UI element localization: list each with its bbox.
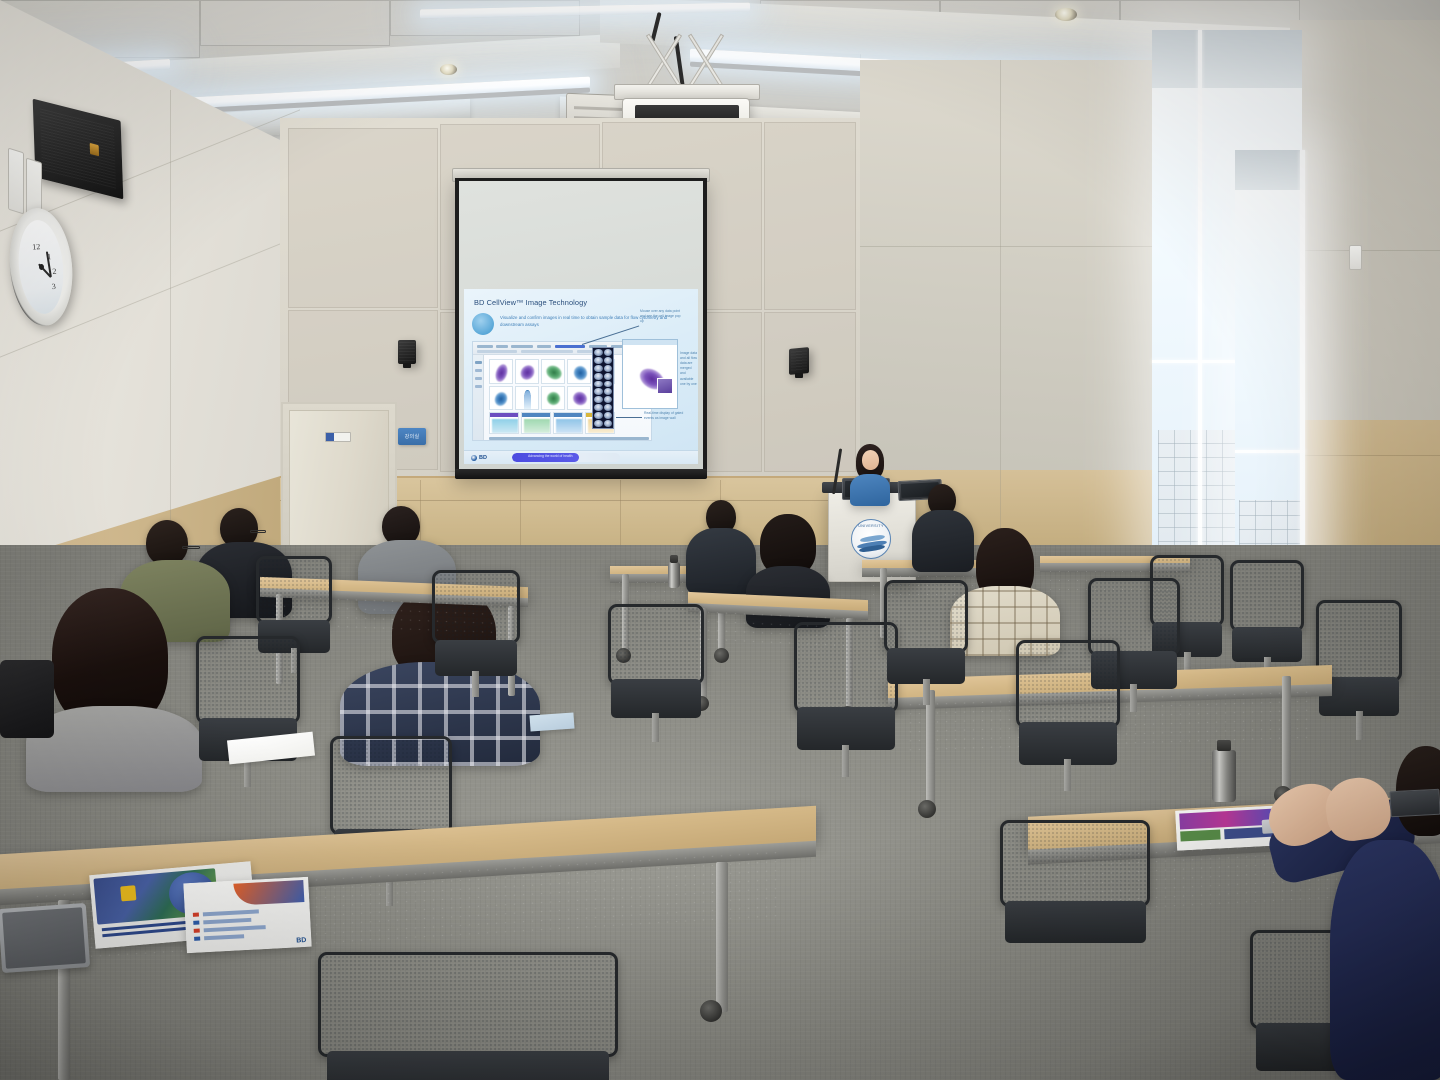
chair[interactable] xyxy=(1230,560,1304,676)
flow-plot-1 xyxy=(489,359,513,384)
presenter xyxy=(848,444,892,504)
slide-icon-badge xyxy=(472,313,494,335)
bd-mark-icon xyxy=(471,455,477,461)
flow-plot-4 xyxy=(567,359,591,384)
slide-detail-panel xyxy=(622,339,678,409)
brochure-bd-logo-2: BD xyxy=(296,937,306,945)
handout-paper-2[interactable] xyxy=(529,712,574,731)
curve-panel-1 xyxy=(489,412,519,434)
callout-text-bottom: Real-time display of gated events as ima… xyxy=(644,411,686,421)
wall-speaker-back-right xyxy=(789,347,809,375)
chair[interactable] xyxy=(794,622,898,768)
water-bottle-2[interactable] xyxy=(1212,750,1236,802)
flow-plot-8 xyxy=(541,386,565,410)
presenter-head xyxy=(862,450,879,470)
window-blind-1 xyxy=(1152,30,1302,88)
backpack xyxy=(0,660,54,738)
bd-logo-text: BD xyxy=(479,455,487,461)
flow-plot-9 xyxy=(567,386,591,410)
callout-text-right: Image data and all flow data are merged … xyxy=(680,351,698,387)
slide-title: BD CellView™ Image Technology xyxy=(474,298,587,307)
speaker-indicator xyxy=(90,143,99,156)
clock-number-2: 2 xyxy=(52,267,57,276)
table-caster xyxy=(714,648,729,663)
window-blind-2 xyxy=(1235,150,1305,190)
chair[interactable] xyxy=(432,570,520,690)
door-sign xyxy=(325,432,351,442)
table-caster xyxy=(918,800,936,818)
room-sign-label: 강의실 xyxy=(398,428,426,445)
slide-banner-text: Advancing the world of health xyxy=(528,454,572,458)
callout-text-top: Mouse over any data point and see the ce… xyxy=(640,309,684,324)
chair[interactable] xyxy=(318,952,618,1080)
flow-plot-2 xyxy=(515,359,539,384)
chair[interactable] xyxy=(608,604,704,734)
flow-plot-7 xyxy=(515,386,539,410)
seminar-room-photo: 12 1 2 3 강의실 BD CellView™ Image Technolo… xyxy=(0,0,1440,1080)
clock-number-12: 12 xyxy=(32,242,41,252)
water-bottle-1[interactable] xyxy=(668,562,680,588)
attendee-laptop[interactable] xyxy=(1389,789,1440,818)
table-caster xyxy=(700,1000,722,1022)
table-leg xyxy=(926,690,935,808)
chair[interactable] xyxy=(884,580,968,698)
downlight-1 xyxy=(440,64,457,75)
slide-footer: BD Advancing the world of health xyxy=(464,450,698,464)
table-leg xyxy=(716,862,728,1012)
cell-image-wall xyxy=(592,347,614,429)
clock-number-3: 3 xyxy=(51,282,56,291)
flow-plot-6 xyxy=(489,386,513,410)
projected-slide: BD CellView™ Image Technology Visualize … xyxy=(464,289,698,464)
attendee-navy-foreground xyxy=(1246,776,1440,1080)
app-sidebar xyxy=(473,355,484,440)
downlight-3 xyxy=(1055,8,1077,21)
curve-panel-2 xyxy=(521,412,551,434)
room-number-sign: 강의실 xyxy=(398,428,426,445)
presenter-torso xyxy=(850,474,890,506)
curve-panel-3 xyxy=(553,412,583,434)
callout-line-bottom xyxy=(616,417,642,418)
bd-logo: BD xyxy=(471,455,487,461)
foreground-tablet[interactable] xyxy=(0,903,90,973)
emblem-label: UNIVERSITY xyxy=(852,524,890,528)
wall-plate-1 xyxy=(8,148,24,215)
wall-plate-right xyxy=(1349,245,1362,270)
chair[interactable] xyxy=(1016,640,1120,782)
chair[interactable] xyxy=(1000,820,1150,960)
brochure-back[interactable]: BD xyxy=(183,877,311,953)
screen-bottom-bar xyxy=(455,469,707,479)
attendee-torso xyxy=(1330,840,1440,1080)
flow-plot-3 xyxy=(541,359,565,384)
wall-speaker-back-left xyxy=(398,340,416,364)
university-emblem: UNIVERSITY xyxy=(851,519,891,559)
slide-banner: Advancing the world of health xyxy=(512,453,620,462)
